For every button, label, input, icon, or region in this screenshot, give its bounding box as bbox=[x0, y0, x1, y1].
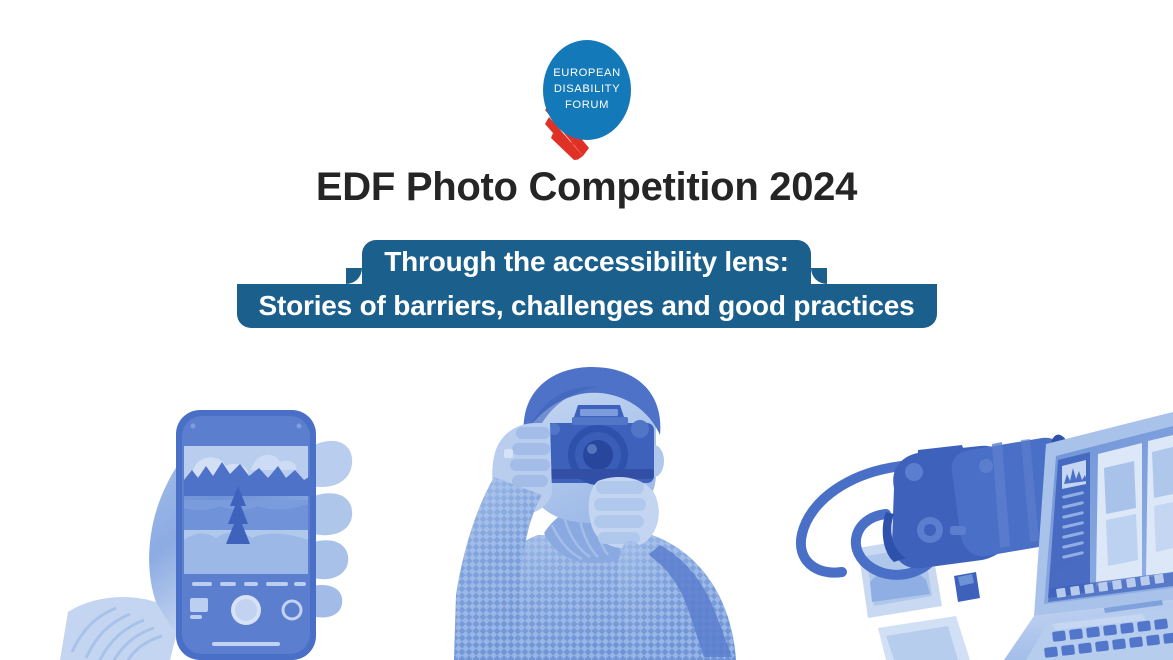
photo-hand-holding-smartphone-graphic bbox=[60, 390, 400, 660]
subtitle-line-1: Through the accessibility lens: bbox=[362, 240, 811, 284]
home-indicator bbox=[212, 642, 280, 646]
page-title: EDF Photo Competition 2024 bbox=[0, 166, 1173, 209]
logo-text-line-2: DISABILITY bbox=[553, 83, 619, 95]
logo-container: EUROPEAN DISABILITY FORUM bbox=[0, 38, 1173, 160]
edf-photo-competition-poster: EUROPEAN DISABILITY FORUM EDF Photo Comp… bbox=[0, 0, 1173, 660]
photo-camera-and-laptop-desk bbox=[790, 410, 1173, 660]
european-disability-forum-logo: EUROPEAN DISABILITY FORUM bbox=[527, 38, 647, 160]
editor-thumbnail-grid bbox=[1096, 435, 1173, 586]
sensor-icon bbox=[191, 424, 196, 429]
photo-man-with-slr-camera-graphic bbox=[420, 365, 770, 660]
subtitle-line-2: Stories of barriers, challenges and good… bbox=[237, 284, 937, 328]
photo-camera-and-laptop-desk-graphic bbox=[790, 410, 1173, 660]
photo-man-with-slr-camera bbox=[420, 365, 770, 660]
logo-text-line-3: FORUM bbox=[564, 99, 608, 111]
ring-icon bbox=[504, 449, 513, 458]
gallery-thumbnail-icon bbox=[190, 598, 208, 612]
photo-strip bbox=[0, 360, 1173, 660]
logo-graphic: EUROPEAN DISABILITY FORUM bbox=[527, 38, 647, 160]
sd-card bbox=[954, 572, 980, 602]
logo-text-line-1: EUROPEAN bbox=[553, 67, 621, 79]
camera-dial bbox=[631, 420, 649, 438]
subtitle-banner: Through the accessibility lens: Stories … bbox=[0, 240, 1173, 328]
sensor-icon bbox=[297, 424, 302, 429]
photo-hand-holding-smartphone bbox=[60, 390, 400, 660]
camera-brand-plate bbox=[580, 409, 618, 416]
fingers-shape bbox=[312, 441, 352, 618]
camera-grip bbox=[542, 469, 654, 479]
